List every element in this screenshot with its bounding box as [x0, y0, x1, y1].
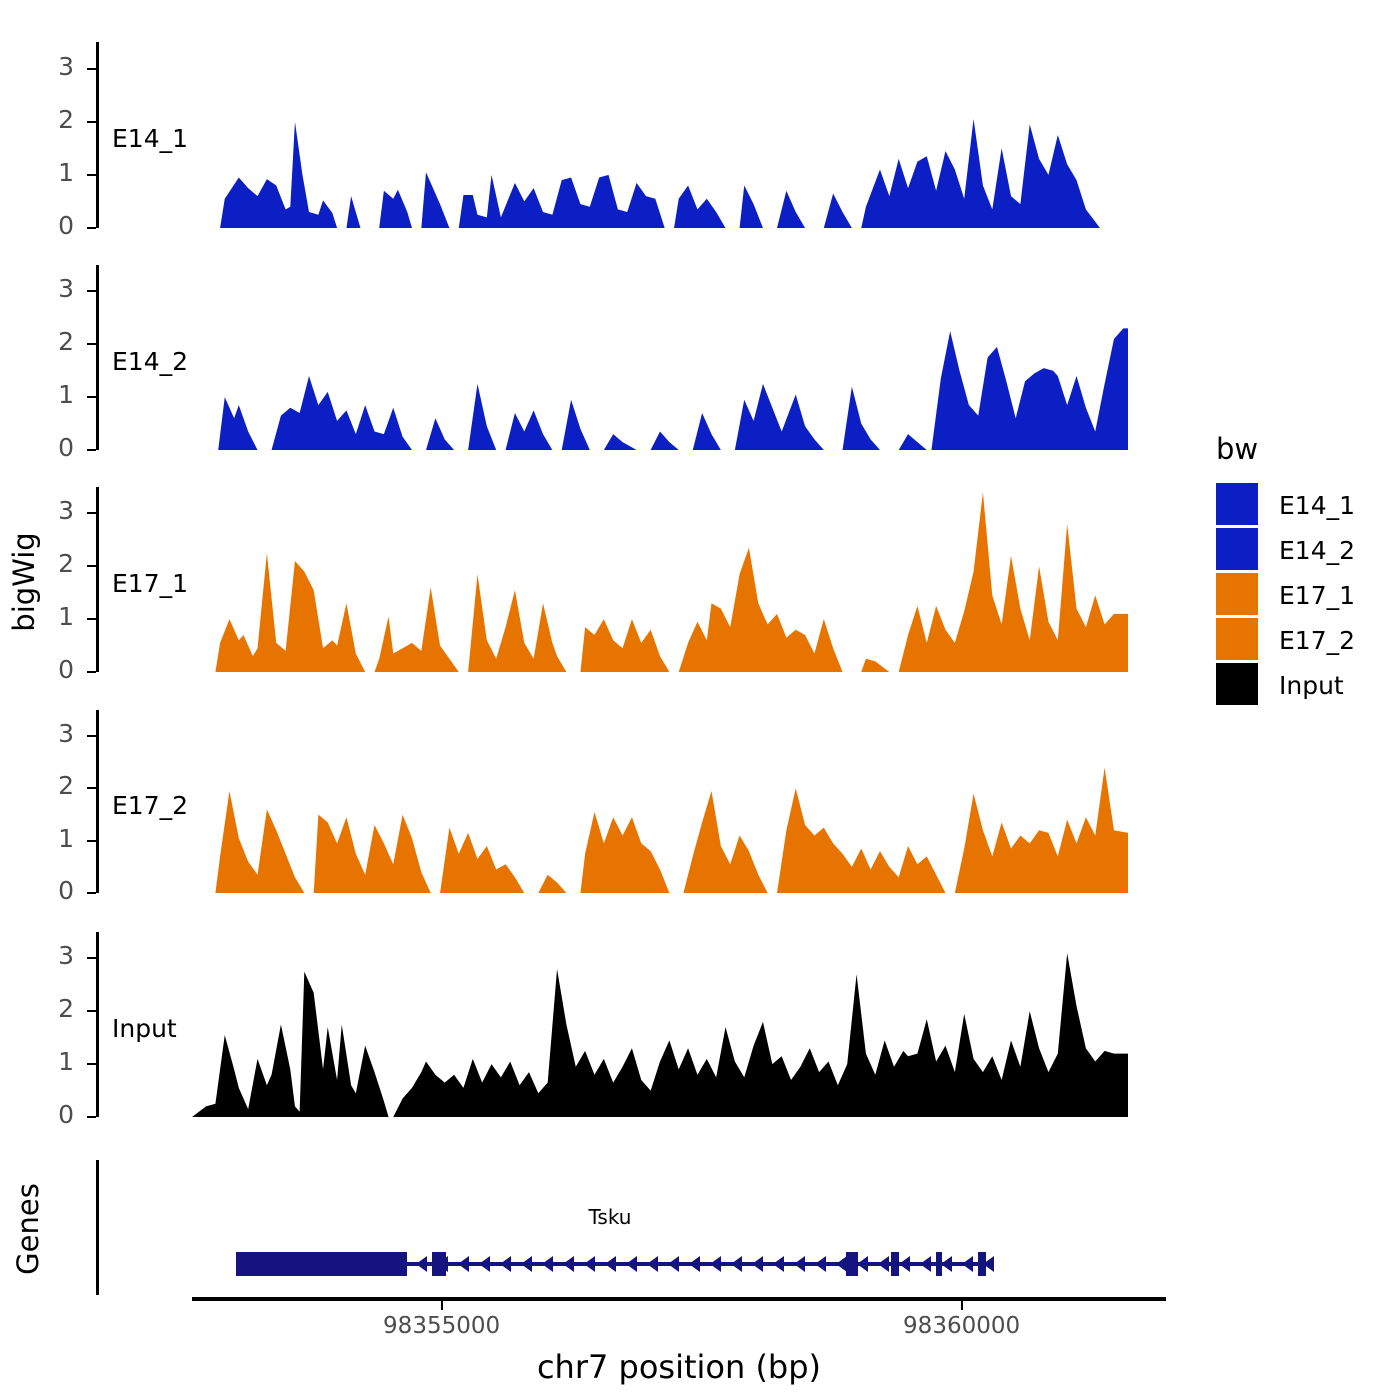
y-tick-label: 1: [6, 824, 74, 853]
genes-axis-line: [96, 1160, 99, 1295]
wiggle-track-e14_1: [192, 42, 1134, 242]
y-tick-label: 1: [6, 158, 74, 187]
y-tick-label: 2: [6, 327, 74, 356]
y-tick-mark: [87, 174, 96, 176]
y-tick-label: 3: [6, 496, 74, 525]
y-tick-label: 3: [6, 274, 74, 303]
y-axis-line-e14_1: [96, 42, 99, 228]
wiggle-track-e14_2: [192, 265, 1134, 464]
y-tick-label: 0: [6, 1100, 74, 1129]
legend-key-input[interactable]: [1216, 663, 1258, 705]
y-tick-mark: [87, 121, 96, 123]
y-tick-mark: [87, 1063, 96, 1065]
y-tick-label: 3: [6, 719, 74, 748]
legend-label-e17_1: E17_1: [1279, 581, 1355, 610]
panel-label-e17_1: E17_1: [112, 569, 188, 598]
legend-key-e14_1[interactable]: [1216, 483, 1258, 525]
y-tick-label: 3: [6, 941, 74, 970]
y-tick-label: 0: [6, 211, 74, 240]
y-axis-line-e17_1: [96, 487, 99, 672]
y-tick-mark: [87, 396, 96, 398]
y-tick-label: 0: [6, 655, 74, 684]
y-tick-mark: [87, 671, 96, 673]
gene-name-label: Tsku: [520, 1205, 700, 1229]
legend-label-e14_1: E14_1: [1279, 491, 1355, 520]
x-tick-label: 98360000: [862, 1313, 1062, 1339]
y-tick-label: 2: [6, 549, 74, 578]
y-tick-mark: [87, 68, 96, 70]
x-tick-label: 98355000: [342, 1313, 542, 1339]
y-tick-mark: [87, 618, 96, 620]
x-tick-mark: [441, 1301, 443, 1310]
legend-key-e14_2[interactable]: [1216, 528, 1258, 570]
figure-root: bigWig Genes chr7 position (bp) 0123E14_…: [0, 0, 1400, 1400]
y-tick-mark: [87, 290, 96, 292]
panel-label-e14_2: E14_2: [112, 347, 188, 376]
y-tick-mark: [87, 1010, 96, 1012]
x-axis-title: chr7 position (bp): [192, 1348, 1166, 1386]
wiggle-track-e17_2: [192, 710, 1134, 907]
y-axis-line-e14_2: [96, 265, 99, 450]
legend-title: bw: [1216, 432, 1258, 466]
legend-key-e17_2[interactable]: [1216, 618, 1258, 660]
y-tick-label: 2: [6, 105, 74, 134]
y-tick-mark: [87, 565, 96, 567]
y-tick-label: 1: [6, 380, 74, 409]
y-tick-label: 1: [6, 602, 74, 631]
y-tick-mark: [87, 512, 96, 514]
genes-axis-title: Genes: [11, 1179, 45, 1279]
y-tick-mark: [87, 957, 96, 959]
y-tick-label: 0: [6, 433, 74, 462]
y-tick-mark: [87, 840, 96, 842]
y-axis-line-e17_2: [96, 710, 99, 893]
panel-label-e17_2: E17_2: [112, 791, 188, 820]
y-tick-mark: [87, 1116, 96, 1118]
y-axis-line-input: [96, 932, 99, 1117]
x-tick-mark: [961, 1301, 963, 1310]
y-tick-label: 3: [6, 52, 74, 81]
y-tick-label: 2: [6, 994, 74, 1023]
y-tick-mark: [87, 449, 96, 451]
x-axis-line: [192, 1297, 1166, 1301]
y-tick-mark: [87, 787, 96, 789]
wiggle-track-input: [192, 932, 1134, 1131]
y-tick-label: 2: [6, 771, 74, 800]
y-tick-mark: [87, 227, 96, 229]
y-tick-mark: [87, 343, 96, 345]
y-tick-label: 0: [6, 876, 74, 905]
gene-model-tsku[interactable]: [236, 1244, 1056, 1284]
wiggle-track-e17_1: [192, 487, 1134, 686]
y-tick-mark: [87, 892, 96, 894]
y-tick-label: 1: [6, 1047, 74, 1076]
legend-label-e14_2: E14_2: [1279, 536, 1355, 565]
legend-key-e17_1[interactable]: [1216, 573, 1258, 615]
panel-label-input: Input: [112, 1014, 177, 1043]
y-tick-mark: [87, 735, 96, 737]
legend-label-input: Input: [1279, 671, 1344, 700]
legend-label-e17_2: E17_2: [1279, 626, 1355, 655]
panel-label-e14_1: E14_1: [112, 124, 188, 153]
